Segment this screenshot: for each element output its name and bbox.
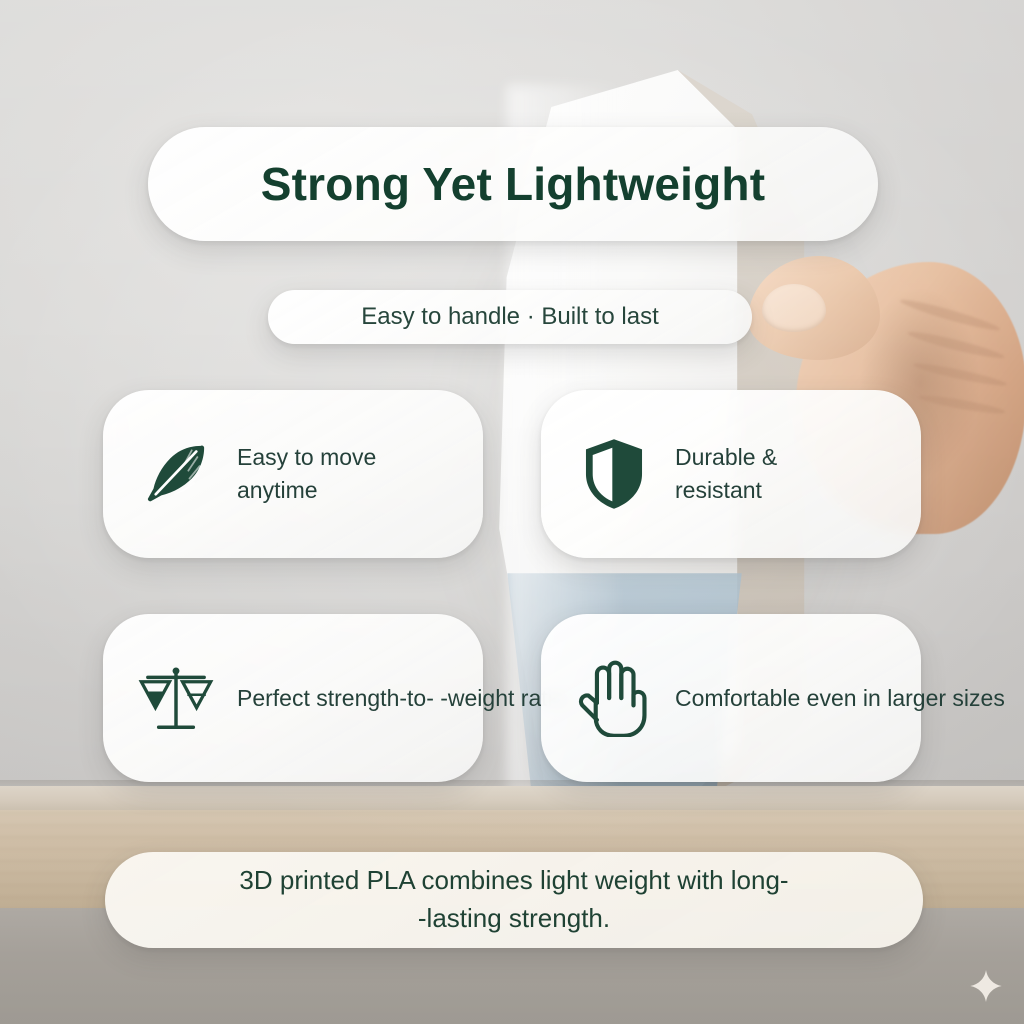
feature-label: Perfect strength-to- -weight ratio [237, 682, 566, 715]
caption-pill: 3D printed PLA combines light weight wit… [105, 852, 923, 948]
feature-card-easy-to-move[interactable]: Easy to move anytime [103, 390, 483, 558]
feature-card-comfortable[interactable]: Comfortable even in larger sizes [541, 614, 921, 782]
balance-scale-icon [137, 659, 215, 737]
header-pill: Strong Yet Lightweight [148, 127, 878, 241]
feather-icon [137, 435, 215, 513]
feature-label: Comfortable even in larger sizes [675, 682, 1005, 715]
feature-card-durable[interactable]: Durable & resistant [541, 390, 921, 558]
shield-icon [575, 435, 653, 513]
caption-text: 3D printed PLA combines light weight wit… [199, 862, 828, 938]
open-hand-icon [575, 659, 653, 737]
feature-label: Durable & resistant [675, 441, 777, 506]
page-subtitle: Easy to handle · Built to last [361, 303, 659, 331]
subtitle-pill: Easy to handle · Built to last [268, 290, 752, 344]
feature-card-strength-to-weight[interactable]: Perfect strength-to- -weight ratio [103, 614, 483, 782]
infographic-scene: Strong Yet Lightweight Easy to handle · … [0, 0, 1024, 1024]
feature-label: Easy to move anytime [237, 441, 376, 506]
page-title: Strong Yet Lightweight [261, 157, 765, 211]
